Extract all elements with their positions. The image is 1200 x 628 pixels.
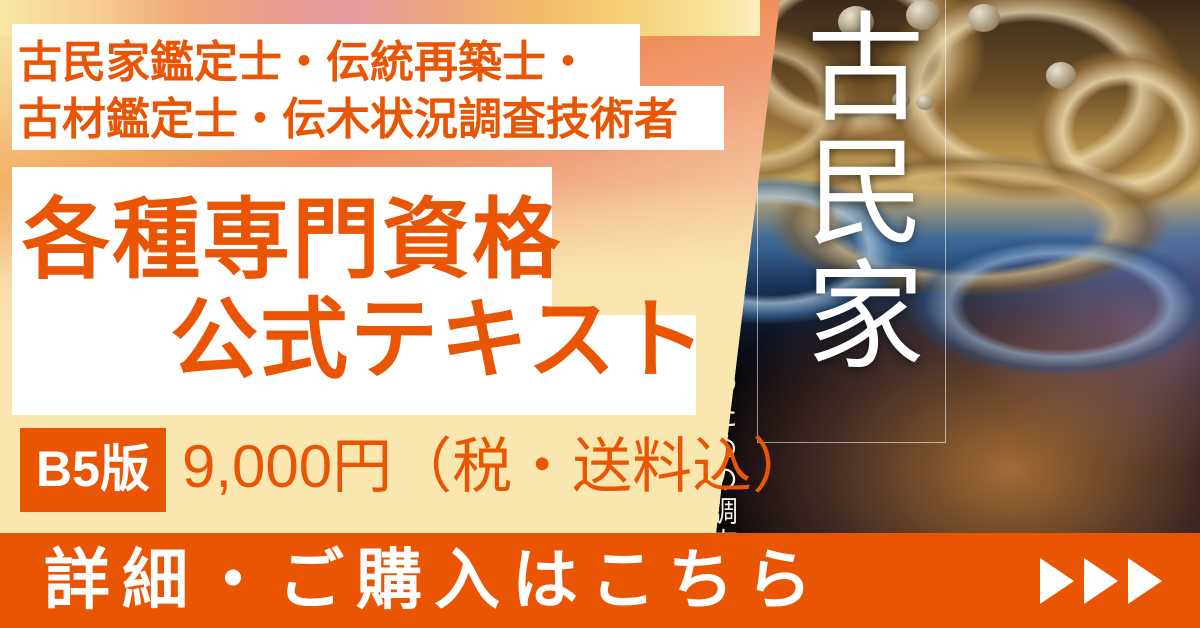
cover-title-vertical: 古民家 bbox=[780, 6, 920, 378]
format-badge: B5版 bbox=[20, 428, 166, 512]
price-text: 9,000円（税・送料込） bbox=[182, 437, 812, 497]
headline-line-1: 各種専門資格 bbox=[22, 196, 562, 284]
qualification-line-1: 古民家鑑定士・伝統再築士・ bbox=[18, 41, 590, 85]
triangle-right-icon bbox=[1040, 558, 1074, 604]
carving-knob-3 bbox=[968, 4, 1000, 32]
cta-bar[interactable]: 詳細・ご購入はこちら bbox=[0, 533, 1200, 628]
promo-banner: 古民家 伝統構法 古民家活用のための調査と再生の 古民家鑑定士・伝統再築士・ 古… bbox=[0, 0, 1200, 628]
cta-arrows bbox=[1040, 558, 1162, 604]
format-badge-label: B5版 bbox=[36, 444, 150, 494]
carving-scroll-3 bbox=[1020, 40, 1200, 220]
cta-label: 詳細・ご購入はこちら bbox=[44, 546, 824, 612]
triangle-right-icon bbox=[1084, 558, 1118, 604]
qualification-line-2: 古材鑑定士・伝木状況調査技術者 bbox=[18, 98, 678, 142]
headline-line-2: 公式テキスト bbox=[170, 296, 707, 384]
carving-knob-4 bbox=[1046, 62, 1076, 89]
triangle-right-icon bbox=[1128, 558, 1162, 604]
